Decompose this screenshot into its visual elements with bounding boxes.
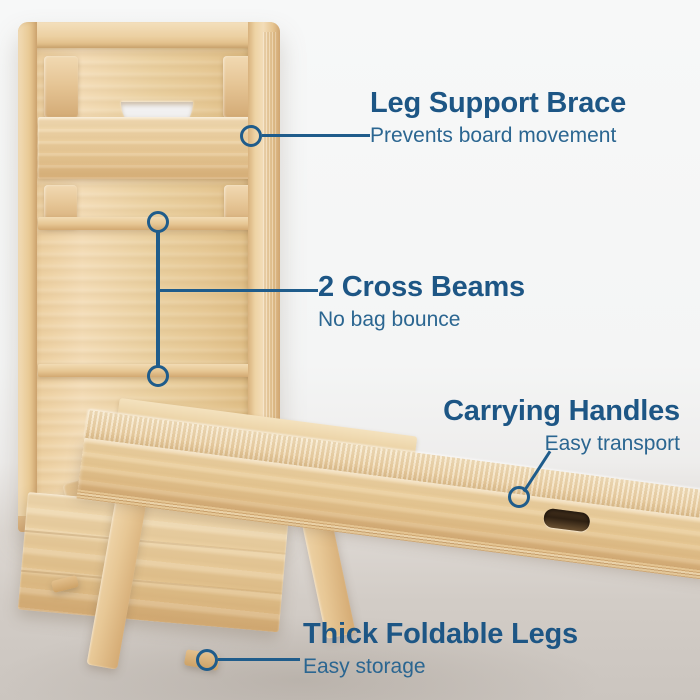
- callout-title: Carrying Handles: [424, 396, 680, 428]
- callout-leg-support-brace[interactable]: Leg Support Brace Prevents board movemen…: [370, 88, 626, 149]
- connector-leg-support-brace: [262, 134, 370, 137]
- marker-foldable-legs[interactable]: [196, 649, 218, 671]
- marker-leg-support-brace[interactable]: [240, 125, 262, 147]
- cross-beam-upper: [38, 217, 252, 230]
- callout-subtitle: No bag bounce: [318, 307, 525, 333]
- callout-subtitle: Prevents board movement: [370, 123, 626, 149]
- callout-title: 2 Cross Beams: [318, 272, 525, 304]
- connector-foldable-legs: [218, 658, 300, 661]
- callout-title: Leg Support Brace: [370, 88, 626, 120]
- board-left-rail: [18, 22, 37, 532]
- callout-title: Thick Foldable Legs: [303, 619, 578, 651]
- callout-foldable-legs[interactable]: Thick Foldable Legs Easy storage: [303, 619, 578, 680]
- marker-cross-beam-lower[interactable]: [147, 365, 169, 387]
- callout-carrying-handles[interactable]: Carrying Handles Easy transport: [424, 396, 680, 457]
- callout-cross-beams[interactable]: 2 Cross Beams No bag bounce: [318, 272, 525, 333]
- callout-subtitle: Easy transport: [424, 431, 680, 457]
- product-infographic: Leg Support Brace Prevents board movemen…: [0, 0, 700, 700]
- cross-beam-lower: [38, 364, 252, 377]
- marker-cross-beam-upper[interactable]: [147, 211, 169, 233]
- callout-subtitle: Easy storage: [303, 654, 578, 680]
- connector-cross-beams-stem: [156, 289, 318, 292]
- brace-block-top-left: [44, 56, 78, 118]
- board-top-rail: [18, 22, 280, 48]
- leg-support-brace: [38, 117, 251, 179]
- connector-cross-beams-vertical: [156, 231, 159, 367]
